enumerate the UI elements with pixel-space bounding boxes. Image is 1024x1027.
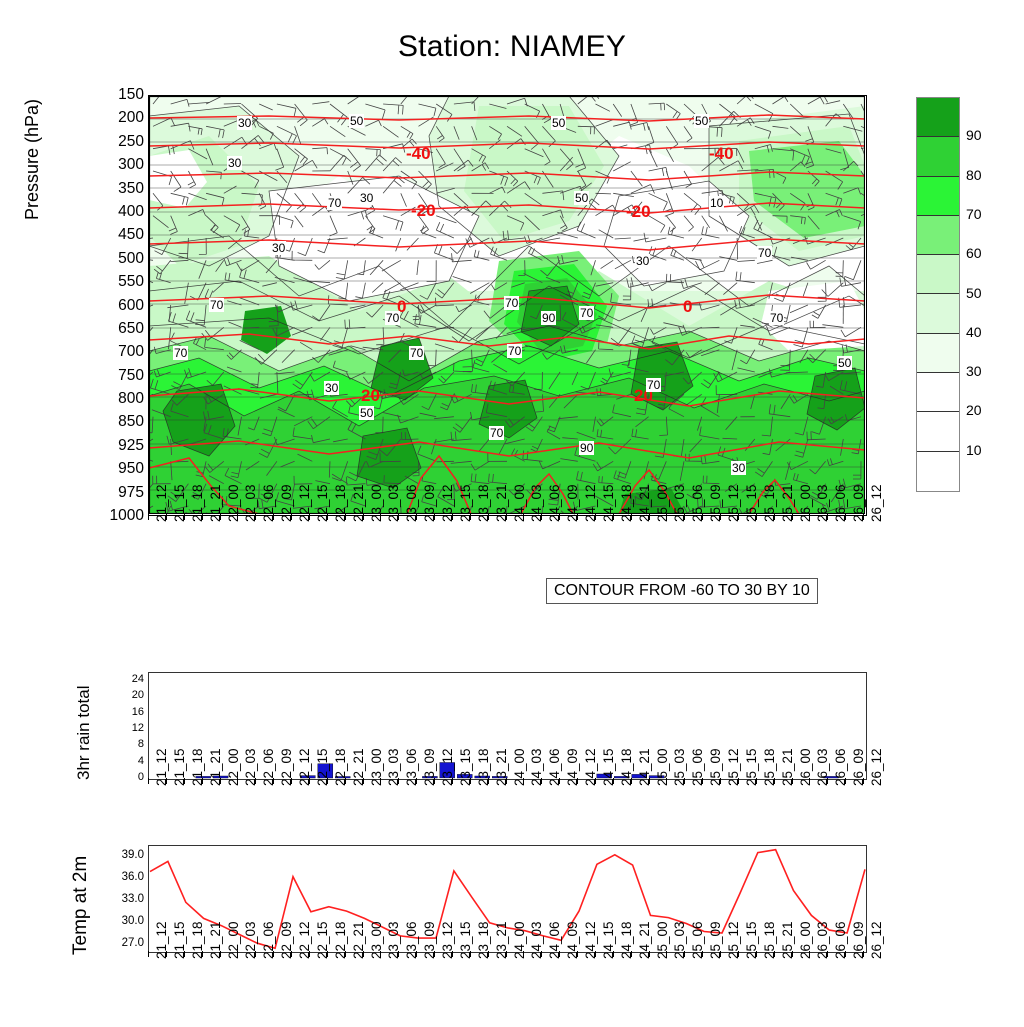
x-tickmark [237,951,238,957]
x-tickmark [541,951,542,957]
x-tickmark [345,951,346,957]
colorbar-segment-7 [917,373,959,412]
x-tickmark [398,778,399,784]
x-tickmark [237,514,238,520]
x-tickmark [631,778,632,784]
x-tickmark [506,778,507,784]
x-tickmark [470,951,471,957]
x-tickmark [434,514,435,520]
x-tickmark [863,514,864,520]
x-tickmark [380,514,381,520]
x-tickmark [327,514,328,520]
x-tickmark [523,951,524,957]
x-tickmark [666,778,667,784]
rh-label-30-a: 30 [237,116,252,130]
colorbar-label-80: 80 [966,167,982,183]
x-tickmark [649,514,650,520]
colorbar-segment-3 [917,216,959,255]
pressure-tick-750: 750 [118,367,144,385]
x-tickmark [380,778,381,784]
rain-y-tick-12: 12 [132,722,144,734]
rh-label-70-f: 70 [579,306,594,320]
x-tickmark [541,514,542,520]
x-tickmark [649,778,650,784]
x-tickmark [416,514,417,520]
x-tickmark [398,514,399,520]
rh-label-70-c: 70 [209,298,224,312]
x-tickmark [577,514,578,520]
x-tickmark [523,514,524,520]
pressure-tick-150: 150 [118,86,144,104]
wind-barb [437,461,454,462]
rh-label-10-a: 10 [709,196,724,210]
x-tickmark [756,951,757,957]
temp-contour-label--20-a: -20 [411,201,436,221]
x-tickmark [255,951,256,957]
x-tickmark [291,951,292,957]
rain-y-tick-8: 8 [138,738,144,750]
rh-label-30-e: 30 [635,254,650,268]
temp-y-tick-36: 36.0 [122,871,144,883]
colorbar-label-60: 60 [966,245,982,261]
x-tickmark [148,778,149,784]
x-tickmark [327,778,328,784]
x-tickmark [613,778,614,784]
pressure-tick-200: 200 [118,109,144,127]
x-tickmark [649,951,650,957]
pressure-tick-700: 700 [118,343,144,361]
x-tickmark [488,778,489,784]
x-tickmark [363,778,364,784]
rh-label-30-c: 30 [359,191,374,205]
x-tickmark [666,514,667,520]
x-tickmark [184,778,185,784]
rh-label-70-d: 70 [385,311,400,325]
x-tickmark [327,951,328,957]
x-tickmark [523,778,524,784]
x-tickmark [345,514,346,520]
x-tickmark [309,778,310,784]
x-tickmark [184,951,185,957]
x-tickmark [702,951,703,957]
pressure-tick-250: 250 [118,133,144,151]
x-tickmark [220,514,221,520]
x-tickmark [756,514,757,520]
temp-contour-label--40-a: -40 [406,144,431,164]
x-tickmark [452,778,453,784]
x-tickmark [255,514,256,520]
x-tickmark [291,778,292,784]
rh-label-70-a: 70 [327,196,342,210]
rh-label-70-i: 70 [409,346,424,360]
x-tickmark [345,778,346,784]
x-tickmark [506,514,507,520]
x-tickmark [220,951,221,957]
x-tickmark [309,514,310,520]
x-tickmark [756,778,757,784]
x-tickmark [202,778,203,784]
temp-x-axis: 21_1221_1521_1821_2122_0022_0322_0622_09… [148,957,867,1027]
page-title: Station: NIAMEY [0,30,1024,64]
x-tickmark [148,514,149,520]
x-tickmark [166,514,167,520]
x-tickmark [273,951,274,957]
rain-y-tick-20: 20 [132,689,144,701]
x-tickmark [702,514,703,520]
x-tickmark [416,778,417,784]
x-tickmark [488,514,489,520]
pressure-tick-300: 300 [118,156,144,174]
x-tickmark [470,514,471,520]
x-tickmark [363,514,364,520]
humidity-cross-section-plot: -40 -40 -20 -20 0 0 20 20 30 50 50 50 30… [148,95,867,516]
x-tickmark [631,514,632,520]
colorbar-segment-1 [917,137,959,176]
x-tickmark [702,778,703,784]
x-tickmark [559,778,560,784]
main-y-axis-ticks: 1502002503003504004505005506006507007508… [96,88,144,524]
colorbar-label-30: 30 [966,363,982,379]
x-tickmark [434,778,435,784]
x-tickmark [220,778,221,784]
x-tickmark [398,951,399,957]
x-tickmark [166,778,167,784]
rh-label-50-c: 50 [694,114,709,128]
rh-label-30-g: 30 [731,461,746,475]
rh-label-50-b: 50 [551,116,566,130]
rain-y-tick-24: 24 [132,673,144,685]
x-tickmark [720,778,721,784]
x-tickmark [416,951,417,957]
x-tickmark [291,514,292,520]
x-tickmark [613,514,614,520]
x-tickmark [845,778,846,784]
x-tickmark [434,951,435,957]
x-tickmark [684,514,685,520]
temp-contour-label-20-a: 20 [361,386,380,406]
x-tickmark [184,514,185,520]
x-tickmark [809,951,810,957]
rh-label-70-h: 70 [173,346,188,360]
x-tickmark [577,778,578,784]
rh-label-70-g: 70 [769,311,784,325]
colorbar [916,97,960,492]
rain-y-tick-4: 4 [138,755,144,767]
x-tickmark [506,951,507,957]
colorbar-label-40: 40 [966,324,982,340]
x-tickmark [470,778,471,784]
rain-y-tick-0: 0 [138,771,144,783]
x-tickmark [845,514,846,520]
pressure-tick-400: 400 [118,203,144,221]
rh-label-90-a: 90 [541,311,556,325]
rh-label-50-d: 50 [574,191,589,205]
x-tickmark [827,951,828,957]
x-tickmark [684,778,685,784]
x-tickmark [595,778,596,784]
x-tickmark [792,951,793,957]
rh-label-70-k: 70 [646,378,661,392]
colorbar-segment-8 [917,412,959,451]
x-tickmark [559,951,560,957]
pressure-tick-1000: 1000 [110,507,144,525]
x-tickmark [202,514,203,520]
temp-y-tick-39: 39.0 [122,849,144,861]
pressure-tick-350: 350 [118,180,144,198]
x-tickmark [202,951,203,957]
x-tickmark [738,514,739,520]
contour-note: CONTOUR FROM -60 TO 30 BY 10 [546,578,818,604]
colorbar-segment-0 [917,98,959,137]
rain-y-tick-16: 16 [132,706,144,718]
x-tickmark [827,514,828,520]
rh-label-30-f: 30 [324,381,339,395]
x-tickmark [541,778,542,784]
wind-barb [224,104,241,105]
x-tickmark [845,951,846,957]
colorbar-segment-5 [917,294,959,333]
temp-contour-label-0-b: 0 [683,297,692,317]
x-tickmark [148,951,149,957]
x-tickmark [613,951,614,957]
x-tickmark [452,951,453,957]
x-tickmark [577,951,578,957]
pressure-tick-800: 800 [118,390,144,408]
rain-y-axis-ticks: 04812162024 [104,666,144,784]
temp-contour-label--40-b: -40 [709,144,734,164]
x-tickmark [273,514,274,520]
pressure-tick-600: 600 [118,297,144,315]
x-tickmark [559,514,560,520]
colorbar-segment-4 [917,255,959,294]
x-tickmark [595,514,596,520]
colorbar-segment-2 [917,177,959,216]
x-tickmark [809,778,810,784]
rain-x-axis: 21_1221_1521_1821_2122_0022_0322_0622_09… [148,784,867,854]
pressure-tick-450: 450 [118,226,144,244]
rh-label-70-j: 70 [507,344,522,358]
x-tickmark [720,951,721,957]
x-tick-26_12: 26_12 [869,748,884,786]
temp-y-tick-27: 27.0 [122,937,144,949]
colorbar-label-90: 90 [966,127,982,143]
rh-label-70-e: 70 [504,296,519,310]
x-tickmark [631,951,632,957]
x-tickmark [792,778,793,784]
x-tickmark [863,951,864,957]
rh-label-90-b: 90 [579,441,594,455]
rh-label-70-l: 70 [489,426,504,440]
rh-label-50-f: 50 [359,406,374,420]
temp-y-tick-30: 30.0 [122,915,144,927]
pressure-tick-925: 925 [118,437,144,455]
colorbar-labels: 908070605040302010 [966,97,1012,492]
x-tickmark [809,514,810,520]
colorbar-segment-6 [917,334,959,373]
temp-y-axis-ticks: 27.030.033.036.039.0 [100,839,144,957]
rh-label-50-a: 50 [349,114,364,128]
pressure-tick-550: 550 [118,273,144,291]
x-tickmark [774,778,775,784]
colorbar-label-10: 10 [966,442,982,458]
pressure-tick-500: 500 [118,250,144,268]
rh-label-30-d: 30 [271,241,286,255]
pressure-tick-850: 850 [118,413,144,431]
x-tickmark [273,778,274,784]
x-tickmark [237,778,238,784]
x-tick-26_12: 26_12 [869,484,884,522]
x-tickmark [452,514,453,520]
rh-label-70-b: 70 [757,246,772,260]
x-tickmark [309,951,310,957]
pressure-tick-975: 975 [118,484,144,502]
x-tickmark [666,951,667,957]
x-tickmark [792,514,793,520]
colorbar-label-50: 50 [966,285,982,301]
x-tick-26_12: 26_12 [869,921,884,959]
colorbar-segment-9 [917,452,959,491]
temp-y-axis-label: Temp at 2m [70,856,92,955]
colorbar-label-70: 70 [966,206,982,222]
x-tickmark [595,951,596,957]
temp-y-tick-33: 33.0 [122,893,144,905]
pressure-tick-950: 950 [118,460,144,478]
pressure-tick-650: 650 [118,320,144,338]
rain-y-axis-label: 3hr rain total [74,686,94,781]
x-tickmark [166,951,167,957]
x-tickmark [738,951,739,957]
x-tickmark [774,514,775,520]
x-tickmark [684,951,685,957]
x-tickmark [827,778,828,784]
x-tickmark [774,951,775,957]
rh-label-50-e: 50 [837,356,852,370]
x-tickmark [863,778,864,784]
x-tickmark [720,514,721,520]
x-tickmark [380,951,381,957]
colorbar-label-20: 20 [966,402,982,418]
rh-label-30-b: 30 [227,156,242,170]
x-tickmark [255,778,256,784]
main-y-axis-label: Pressure (hPa) [22,99,43,220]
x-tickmark [738,778,739,784]
x-tickmark [488,951,489,957]
temp-contour-label--20-b: -20 [626,202,651,222]
x-tickmark [363,951,364,957]
